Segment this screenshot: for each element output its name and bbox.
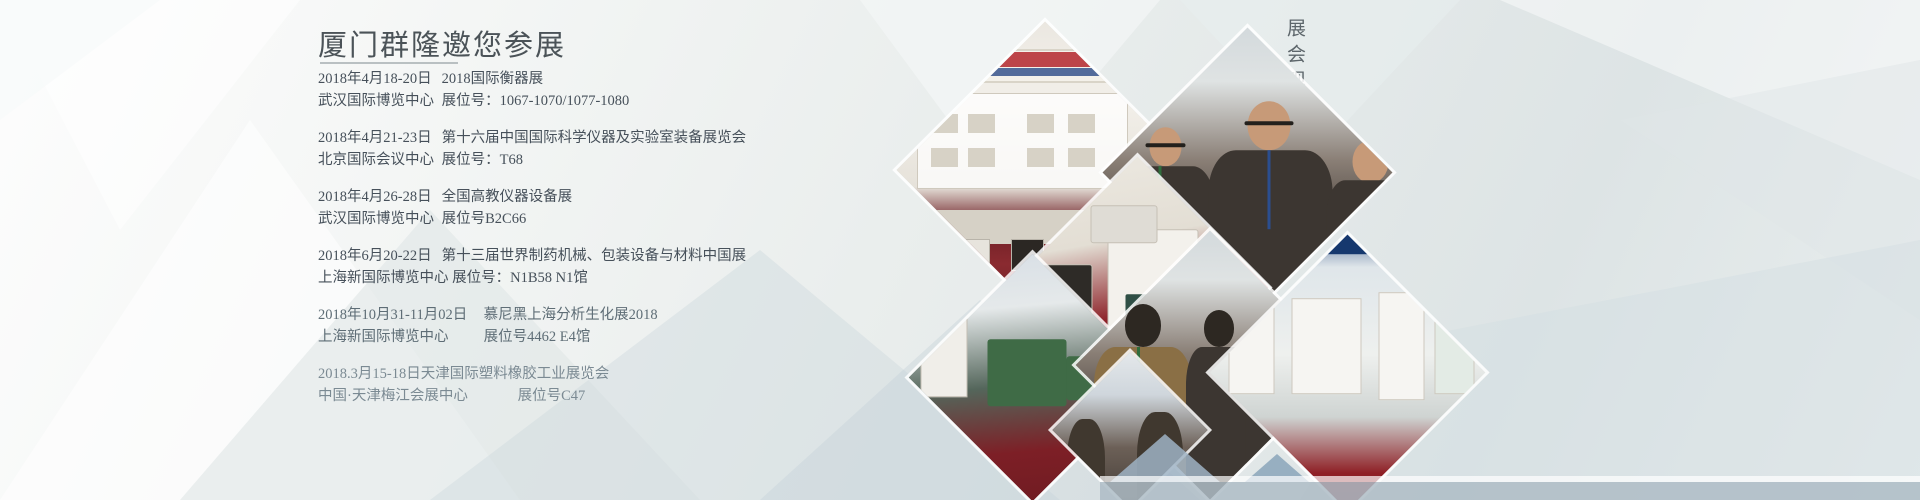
- banner-root: 厦门群隆邀您参展 2018年4月18-20日 2018国际衡器展 武汉国际博览中…: [0, 0, 1920, 500]
- list-item: 2018年4月26-28日 全国高教仪器设备展 武汉国际博览中心 展位号B2C6…: [318, 186, 878, 230]
- entry-line-date: 2018年4月26-28日 全国高教仪器设备展: [318, 186, 878, 208]
- photo-collage: [1020, 0, 1580, 500]
- entry-line-date: 2018年4月21-23日 第十六届中国国际科学仪器及实验室装备展览会: [318, 127, 878, 149]
- entry-venue: 上海新国际博览中心: [318, 267, 449, 289]
- entry-line-date: 2018年4月18-20日 2018国际衡器展: [318, 68, 878, 90]
- entry-date: 2018年4月18-20日: [318, 68, 438, 90]
- exhibition-list: 2018年4月18-20日 2018国际衡器展 武汉国际博览中心 展位号：106…: [318, 68, 878, 422]
- entry-date: 2018年10月31-11月02日: [318, 304, 480, 326]
- decorative-triangle-left: [1110, 434, 1220, 482]
- entry-line-date: 2018年6月20-22日 第十三届世界制药机械、包装设备与材料中国展: [318, 245, 878, 267]
- entry-venue: 中国·天津梅江会展中心: [318, 385, 514, 407]
- entry-booth: 展位号：T68: [442, 149, 523, 171]
- entry-line-date: 2018.3月15-18日天津国际塑料橡胶工业展览会: [318, 363, 878, 385]
- entry-booth: 展位号C47: [518, 385, 586, 407]
- entry-booth: 展位号B2C66: [442, 208, 527, 230]
- entry-name: 慕尼黑上海分析生化展2018: [484, 304, 658, 326]
- entry-booth: 展位号：N1B58 N1馆: [452, 267, 588, 289]
- title-underline: [320, 62, 458, 64]
- entry-name: 2018国际衡器展: [442, 68, 544, 90]
- list-item: 2018年4月21-23日 第十六届中国国际科学仪器及实验室装备展览会 北京国际…: [318, 127, 878, 171]
- page-title: 厦门群隆邀您参展: [318, 22, 566, 64]
- entry-venue: 北京国际会议中心: [318, 149, 438, 171]
- list-item: 2018年4月18-20日 2018国际衡器展 武汉国际博览中心 展位号：106…: [318, 68, 878, 112]
- entry-name: 第十三届世界制药机械、包装设备与材料中国展: [442, 245, 747, 267]
- list-item: 2018年6月20-22日 第十三届世界制药机械、包装设备与材料中国展 上海新国…: [318, 245, 878, 289]
- list-item: 2018.3月15-18日天津国际塑料橡胶工业展览会 中国·天津梅江会展中心 展…: [318, 363, 878, 407]
- entry-venue: 武汉国际博览中心: [318, 90, 438, 112]
- entry-name: 全国高教仪器设备展: [442, 186, 573, 208]
- entry-name: 第十六届中国国际科学仪器及实验室装备展览会: [442, 127, 747, 149]
- text-column: 厦门群隆邀您参展 2018年4月18-20日 2018国际衡器展 武汉国际博览中…: [0, 0, 900, 500]
- entry-line-venue: 武汉国际博览中心 展位号：1067-1070/1077-1080: [318, 90, 878, 112]
- list-item: 2018年10月31-11月02日 慕尼黑上海分析生化展2018 上海新国际博览…: [318, 304, 878, 348]
- entry-venue: 上海新国际博览中心: [318, 326, 480, 348]
- booth-banner: [897, 49, 1193, 83]
- entry-booth: 展位号：1067-1070/1077-1080: [442, 90, 630, 112]
- entry-date: 2018年4月21-23日: [318, 127, 438, 149]
- entry-line-venue: 上海新国际博览中心 展位号：N1B58 N1馆: [318, 267, 878, 289]
- entry-date: 2018.3月15-18日天津国际塑料橡胶工业展览会: [318, 363, 609, 385]
- entry-booth: 展位号4462 E4馆: [484, 326, 591, 348]
- entry-line-venue: 上海新国际博览中心 展位号4462 E4馆: [318, 326, 878, 348]
- bottom-accent-bar: [1100, 482, 1920, 500]
- entry-date: 2018年6月20-22日: [318, 245, 438, 267]
- entry-line-venue: 北京国际会议中心 展位号：T68: [318, 149, 878, 171]
- entry-line-venue: 武汉国际博览中心 展位号B2C66: [318, 208, 878, 230]
- entry-line-venue: 中国·天津梅江会展中心 展位号C47: [318, 385, 878, 407]
- entry-date: 2018年4月26-28日: [318, 186, 438, 208]
- entry-line-date: 2018年10月31-11月02日 慕尼黑上海分析生化展2018: [318, 304, 878, 326]
- booth-board: [917, 93, 1127, 189]
- entry-venue: 武汉国际博览中心: [318, 208, 438, 230]
